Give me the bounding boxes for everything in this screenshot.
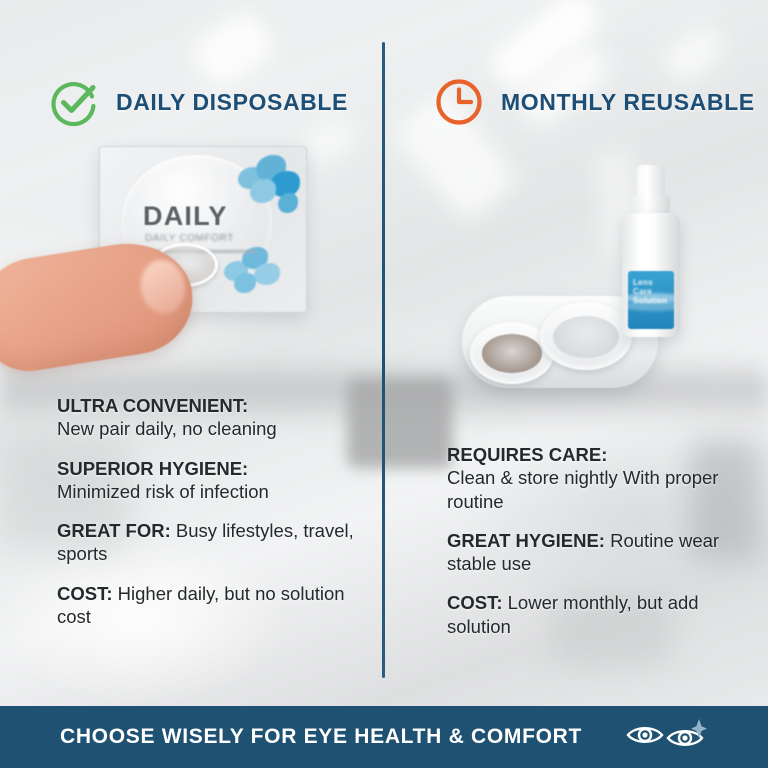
right-column-points: REQUIRES CARE: Clean & store nightly Wit… xyxy=(447,443,747,638)
lens-case-cup-right xyxy=(540,302,632,370)
list-item: ULTRA CONVENIENT: New pair daily, no cle… xyxy=(57,394,357,441)
point-value: Minimized risk of infection xyxy=(57,481,269,502)
right-column-title: MONTHLY REUSABLE xyxy=(501,89,755,116)
point-key: ULTRA CONVENIENT: xyxy=(57,395,248,416)
eye-sparkle-icon xyxy=(666,718,708,757)
list-item: REQUIRES CARE: Clean & store nightly Wit… xyxy=(447,443,747,513)
point-value: Clean & store nightly With proper routin… xyxy=(447,467,718,511)
right-column-header: MONTHLY REUSABLE xyxy=(433,76,755,128)
left-column-header: DAILY DISPOSABLE xyxy=(48,76,348,128)
footer-eye-icons xyxy=(626,718,708,757)
footer-banner: CHOOSE WISELY FOR EYE HEALTH & COMFORT xyxy=(0,706,768,768)
list-item: GREAT FOR: Busy lifestyles, travel, spor… xyxy=(57,519,357,566)
list-item: COST: Lower monthly, but add solution xyxy=(447,591,747,638)
background-blur-shape xyxy=(347,378,453,468)
check-circle-icon xyxy=(48,76,100,128)
left-column-title: DAILY DISPOSABLE xyxy=(116,89,348,116)
bottle-cap xyxy=(637,165,665,199)
list-item: GREAT HYGIENE: Routine wear stable use xyxy=(447,529,747,576)
point-key: COST: xyxy=(57,583,113,604)
point-key: GREAT HYGIENE: xyxy=(447,530,605,551)
list-item: SUPERIOR HYGIENE: Minimized risk of infe… xyxy=(57,457,357,504)
point-key: GREAT FOR: xyxy=(57,520,171,541)
clock-icon xyxy=(433,76,485,128)
infographic-canvas: DAILY DISPOSABLE MONTHLY REUSABLE DAILY xyxy=(0,0,768,768)
packet-flower-graphic xyxy=(236,153,302,215)
point-key: COST: xyxy=(447,592,503,613)
point-key: SUPERIOR HYGIENE: xyxy=(57,458,248,479)
packet-brand-text: DAILY xyxy=(143,201,228,232)
eye-icon xyxy=(626,721,664,754)
bottle-label: Lens Care Solution xyxy=(628,271,674,329)
footer-tagline: CHOOSE WISELY FOR EYE HEALTH & COMFORT xyxy=(60,725,582,749)
point-value: New pair daily, no cleaning xyxy=(57,418,277,439)
point-key: REQUIRES CARE: xyxy=(447,444,607,465)
left-column-points: ULTRA CONVENIENT: New pair daily, no cle… xyxy=(57,394,357,628)
list-item: COST: Higher daily, but no solution cost xyxy=(57,582,357,629)
column-divider xyxy=(382,42,385,678)
solution-bottle-image: Lens Care Solution xyxy=(620,165,682,337)
